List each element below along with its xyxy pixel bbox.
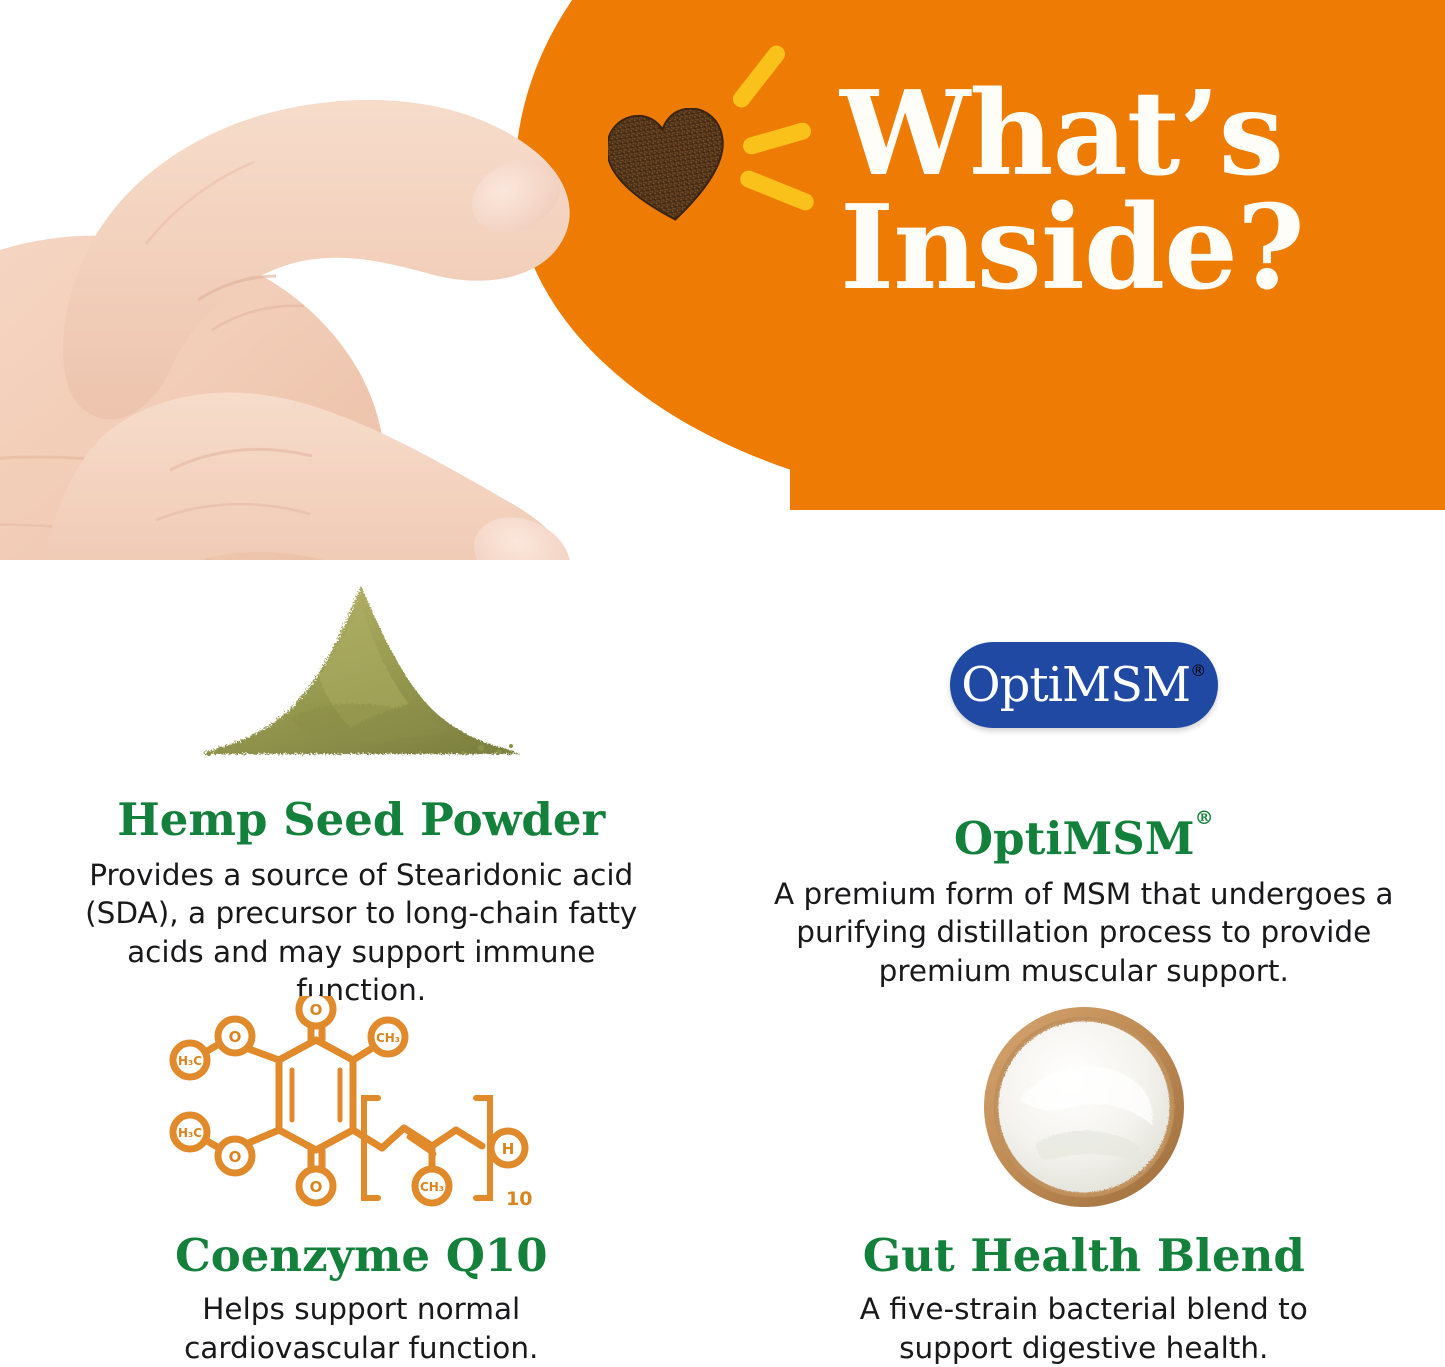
ingredient-title: Gut Health Blend [863, 1233, 1305, 1278]
coq10-media: O O O O H₃C H₃C CH₃ CH₃ H 10 [0, 994, 723, 1219]
ingredient-title-text: Gut Health Blend [863, 1229, 1305, 1282]
molecule-label-h-end: H [502, 1140, 515, 1158]
white-powder-bowl-icon [980, 1003, 1188, 1211]
molecule-label-o-top: O [310, 1001, 323, 1019]
ingredient-description: A five-strain bacterial blend to support… [804, 1290, 1364, 1367]
hero-title: What’s Inside? [840, 78, 1440, 305]
molecule-label-ch3-ring: CH₃ [376, 1031, 400, 1045]
molecule-label-ch3-chain: CH₃ [420, 1180, 444, 1194]
ingredient-description: A premium form of MSM that undergoes a p… [774, 875, 1394, 990]
ingredient-title-text: Coenzyme Q10 [175, 1229, 548, 1282]
ingredient-title: OptiMSM® [954, 816, 1214, 861]
sparkle-line-3 [738, 168, 817, 213]
sparkle-line-2 [741, 121, 813, 157]
molecule-label-o-upper-left: O [229, 1028, 242, 1046]
hero-title-line-2: Inside? [840, 192, 1440, 306]
ingredient-description: Helps support normal cardiovascular func… [101, 1290, 621, 1367]
molecule-label-h3c-upper: H₃C [178, 1054, 202, 1068]
ingredient-title-text: Hemp Seed Powder [117, 793, 605, 846]
molecule-label-h3c-lower: H₃C [178, 1126, 202, 1140]
molecule-label-o-lower-left: O [229, 1148, 242, 1166]
ingredient-card-gut-health-blend: Gut Health Blend A five-strain bacterial… [723, 990, 1445, 1367]
ingredient-title-text: OptiMSM [954, 812, 1195, 865]
optimsm-logo-registered-mark: ® [1190, 661, 1206, 680]
hemp-seed-powder-media [0, 578, 723, 773]
ingredient-card-hemp-seed-powder: Hemp Seed Powder Provides a source of St… [0, 560, 723, 990]
optimsm-logo-text: OptiMSM [961, 661, 1190, 709]
ingredients-grid: Hemp Seed Powder Provides a source of St… [0, 560, 1445, 1367]
coenzyme-q10-molecule-icon: O O O O H₃C H₃C CH₃ CH₃ H 10 [146, 996, 576, 1218]
ingredient-description: Provides a source of Stearidonic acid (S… [61, 856, 661, 1009]
sparkle-lines-icon [716, 62, 846, 242]
registered-mark: ® [1195, 807, 1214, 829]
heart-chew-icon [608, 108, 728, 228]
hand-image [0, 0, 720, 560]
ingredient-card-coenzyme-q10: O O O O H₃C H₃C CH₃ CH₃ H 10 Coenzyme Q1… [0, 990, 723, 1367]
ingredient-card-optimsm: OptiMSM® OptiMSM® A premium form of MSM … [723, 560, 1445, 990]
ingredient-title: Hemp Seed Powder [117, 797, 605, 842]
gut-health-media [723, 994, 1445, 1219]
molecule-label-o-bottom: O [310, 1178, 323, 1196]
hero-banner: What’s Inside? [0, 0, 1445, 560]
hemp-powder-pile-icon [191, 578, 531, 773]
optimsm-logo: OptiMSM® [950, 642, 1218, 728]
optimsm-media: OptiMSM® [723, 578, 1445, 792]
ingredient-title: Coenzyme Q10 [175, 1233, 548, 1278]
molecule-label-repeat-count: 10 [506, 1188, 532, 1210]
